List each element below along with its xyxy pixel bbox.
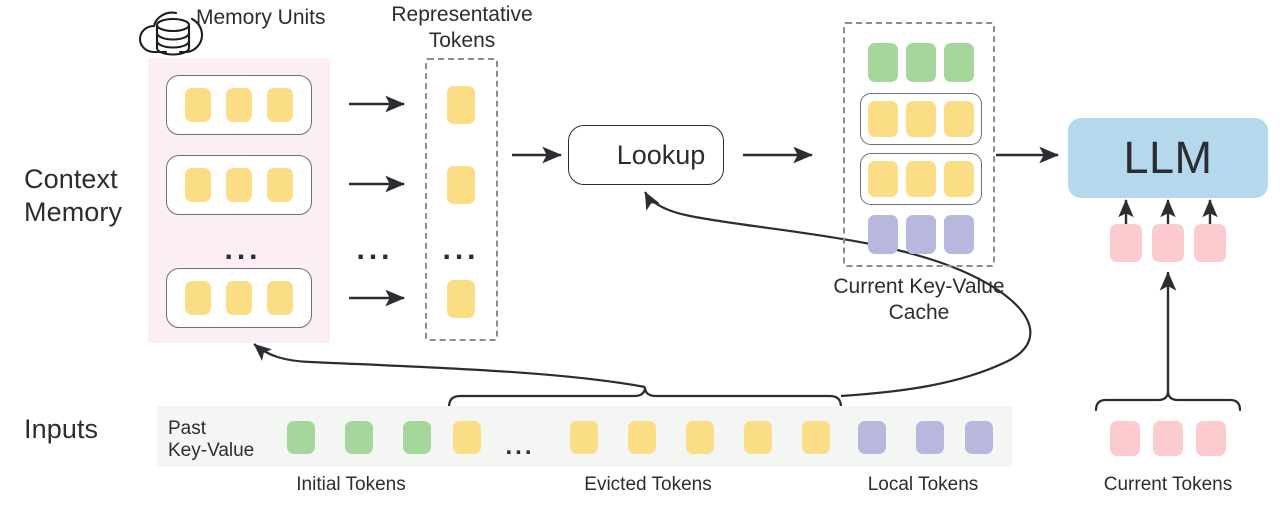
kv-token (906, 215, 936, 254)
kv-token (906, 43, 936, 82)
kv-token (868, 101, 898, 137)
local-tokens-label: Local Tokens (833, 473, 1013, 496)
memory-token (267, 88, 293, 122)
input-token-current-3 (1196, 421, 1226, 456)
inputs-label: Inputs (24, 413, 164, 446)
input-token-current-2 (1153, 421, 1183, 456)
cloud-database-icon (140, 13, 202, 55)
llm-input-token-3 (1194, 224, 1226, 262)
llm-label: LLM (1123, 133, 1212, 183)
kv-token (868, 161, 898, 197)
input-token-evicted-4 (686, 421, 714, 454)
memory-unit-2[interactable] (166, 155, 312, 215)
context-memory-label: Context Memory (24, 163, 154, 229)
input-token-local-1 (858, 421, 886, 454)
kv-row-retrieved-b (860, 153, 982, 205)
lookup-button[interactable]: Lookup (568, 125, 724, 185)
evicted-tokens-label: Evicted Tokens (558, 473, 738, 496)
arrow-tokens-to-llm (1126, 200, 1210, 224)
kv-token (944, 43, 974, 82)
input-token-evicted-1 (453, 421, 481, 454)
kv-token (906, 101, 936, 137)
input-token-local-2 (916, 421, 944, 454)
kv-row-local (868, 215, 974, 254)
brace-evicted-tokens (449, 387, 841, 407)
llm-input-token-2 (1152, 224, 1184, 262)
input-token-evicted-3 (628, 421, 656, 454)
initial-tokens-label: Initial Tokens (261, 473, 441, 496)
kv-token (868, 215, 898, 254)
representative-tokens-title: Representative Tokens (383, 2, 541, 54)
input-token-initial-3 (403, 421, 431, 454)
kv-token (944, 161, 974, 197)
memory-units-ellipsis: ... (213, 245, 273, 255)
memory-units-title: Memory Units (196, 5, 396, 31)
memory-token (185, 168, 211, 202)
input-token-evicted-2 (570, 421, 598, 454)
memory-token (267, 168, 293, 202)
representative-token-1 (447, 86, 475, 124)
memory-token (226, 168, 252, 202)
memory-unit-3[interactable] (166, 268, 312, 328)
input-token-initial-2 (345, 421, 373, 454)
memory-token (267, 281, 293, 315)
kv-row-initial (868, 43, 974, 82)
brace-current-tokens (1096, 391, 1240, 410)
input-token-evicted-5 (744, 421, 772, 454)
past-key-value-label: Past Key-Value (168, 418, 268, 462)
arrow-evicted-to-context-memory (254, 344, 645, 387)
kv-token (944, 101, 974, 137)
llm-box[interactable]: LLM (1068, 118, 1268, 198)
representative-tokens-ellipsis: ... (431, 245, 491, 255)
input-token-evicted-6 (802, 421, 830, 454)
current-tokens-label: Current Tokens (1078, 473, 1258, 496)
kv-token (944, 215, 974, 254)
memory-token (226, 281, 252, 315)
representative-token-3 (447, 280, 475, 318)
memory-token (185, 88, 211, 122)
memory-token (226, 88, 252, 122)
memory-unit-1[interactable] (166, 75, 312, 135)
arrow-column-ellipsis: ... (345, 245, 405, 255)
input-token-initial-1 (287, 421, 315, 454)
kv-token (868, 43, 898, 82)
kv-token (906, 161, 936, 197)
input-evicted-ellipsis: ... (490, 442, 550, 452)
kv-row-retrieved-a (860, 93, 982, 145)
memory-token (185, 281, 211, 315)
diagram-canvas: Context Memory Inputs Memory Units Repre… (0, 0, 1280, 509)
representative-token-2 (447, 166, 475, 204)
input-token-local-3 (965, 421, 993, 454)
lookup-label: Lookup (617, 140, 706, 170)
input-token-current-1 (1110, 421, 1140, 456)
llm-input-token-1 (1110, 224, 1142, 262)
current-kv-cache-label: Current Key-Value Cache (824, 274, 1014, 326)
arrow-unit-to-representative (349, 104, 404, 298)
